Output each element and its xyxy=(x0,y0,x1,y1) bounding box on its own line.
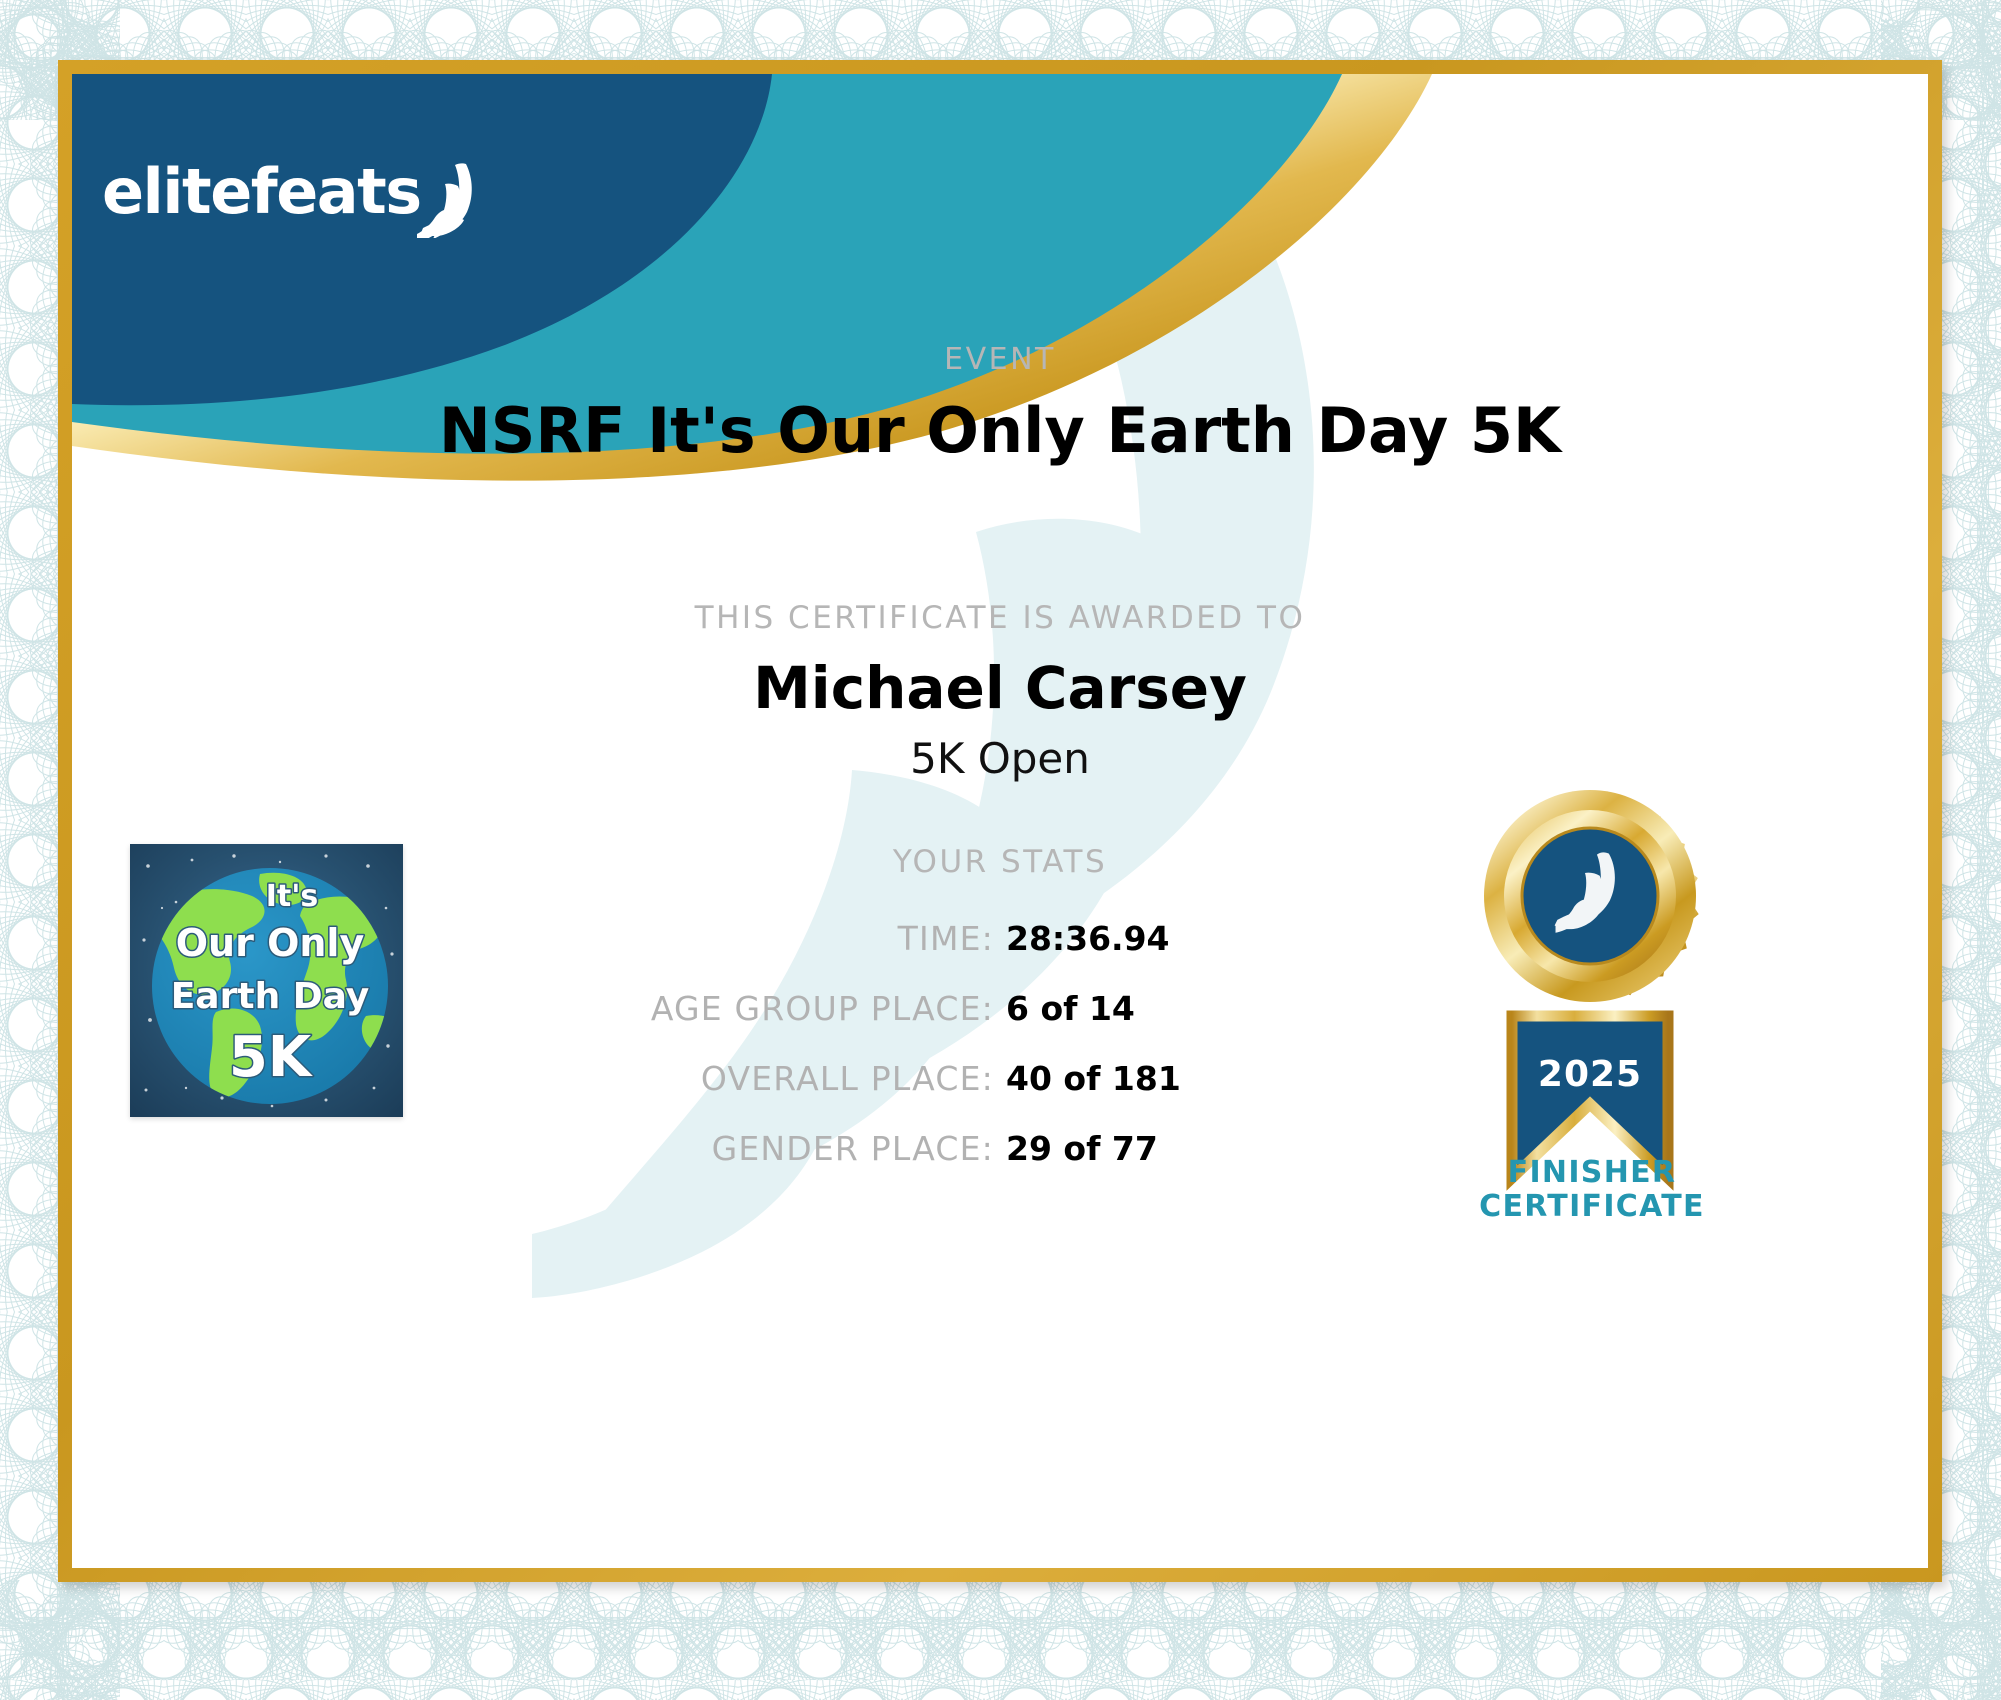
finisher-caption-line2: CERTIFICATE xyxy=(1412,1190,1772,1224)
event-logo-line4: 5K xyxy=(229,1025,314,1090)
event-logo-line1: It's xyxy=(266,879,319,914)
stat-label: OVERALL PLACE: xyxy=(524,1059,1006,1098)
stat-label: GENDER PLACE: xyxy=(524,1129,1006,1168)
stat-label: AGE GROUP PLACE: xyxy=(524,989,1006,1028)
recipient-name: Michael Carsey xyxy=(72,654,1928,722)
event-logo-image: It's Our Only Earth Day 5K xyxy=(130,844,403,1117)
certificate-content: EVENT NSRF It's Our Only Earth Day 5K TH… xyxy=(72,74,1928,1568)
certificate-page: elitefeats EVENT NSRF It's Our Only Eart… xyxy=(0,0,2001,1700)
stat-value: 28:36.94 xyxy=(1006,919,1476,958)
finisher-certificate-caption: FINISHER CERTIFICATE xyxy=(1412,1156,1772,1223)
certificate-body: elitefeats EVENT NSRF It's Our Only Eart… xyxy=(72,74,1928,1568)
stat-value: 40 of 181 xyxy=(1006,1059,1476,1098)
event-title: NSRF It's Our Only Earth Day 5K xyxy=(72,394,1928,467)
recipient-division: 5K Open xyxy=(72,734,1928,783)
stat-value: 6 of 14 xyxy=(1006,989,1476,1028)
event-logo-line2: Our Only xyxy=(176,921,365,965)
awarded-to-caption: THIS CERTIFICATE IS AWARDED TO xyxy=(72,600,1928,636)
finisher-medal: 2025 xyxy=(1440,786,1740,1206)
event-caption: EVENT xyxy=(72,342,1928,377)
event-logo-line3: Earth Day xyxy=(171,976,370,1017)
winged-foot-icon xyxy=(417,162,485,238)
medal-ribbon xyxy=(1512,1016,1668,1178)
stat-label: TIME: xyxy=(524,919,1006,958)
finisher-caption-line1: FINISHER xyxy=(1412,1156,1772,1190)
brand-logo: elitefeats xyxy=(102,146,485,238)
brand-wordmark: elitefeats xyxy=(102,161,421,223)
stat-value: 29 of 77 xyxy=(1006,1129,1476,1168)
medal-year: 2025 xyxy=(1538,1054,1642,1095)
